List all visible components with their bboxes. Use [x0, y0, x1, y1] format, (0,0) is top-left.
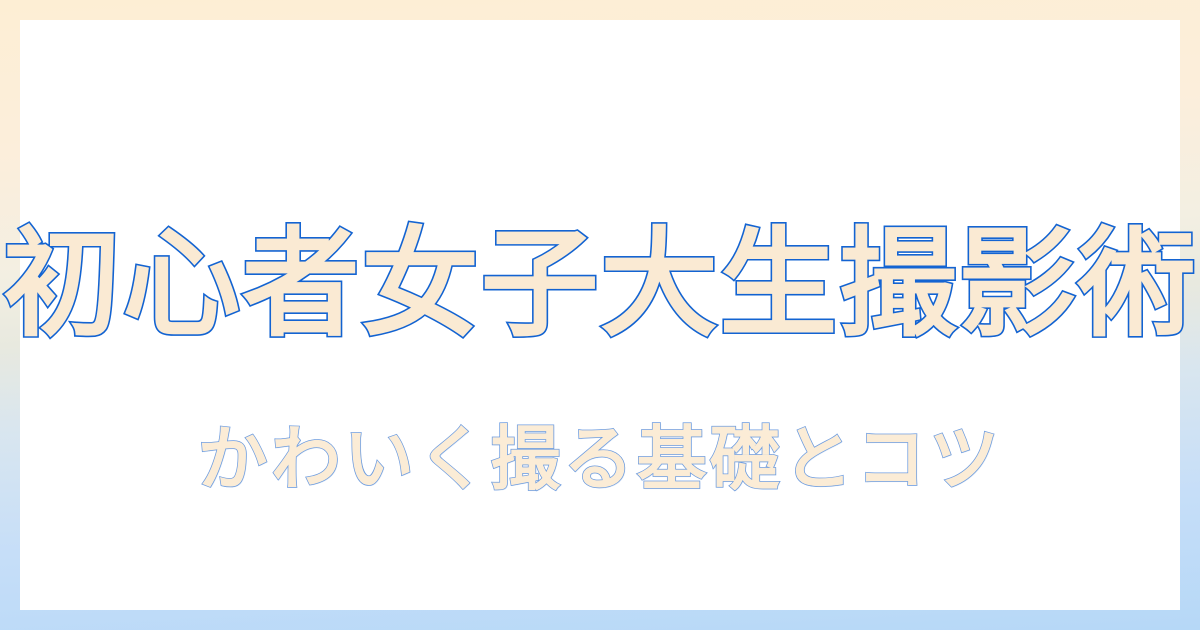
subtitle-container: かわいく撮る基礎とコツ [20, 418, 1180, 500]
page-subtitle: かわいく撮る基礎とコツ [198, 424, 1003, 494]
inner-white-panel: 初心者女子大生撮影術 かわいく撮る基礎とコツ [20, 20, 1180, 610]
title-container: 初心者女子大生撮影術 [20, 216, 1180, 352]
card-content: 初心者女子大生撮影術 かわいく撮る基礎とコツ [20, 20, 1180, 610]
title-card: 初心者女子大生撮影術 かわいく撮る基礎とコツ [0, 0, 1200, 630]
page-title: 初心者女子大生撮影術 [3, 225, 1197, 343]
